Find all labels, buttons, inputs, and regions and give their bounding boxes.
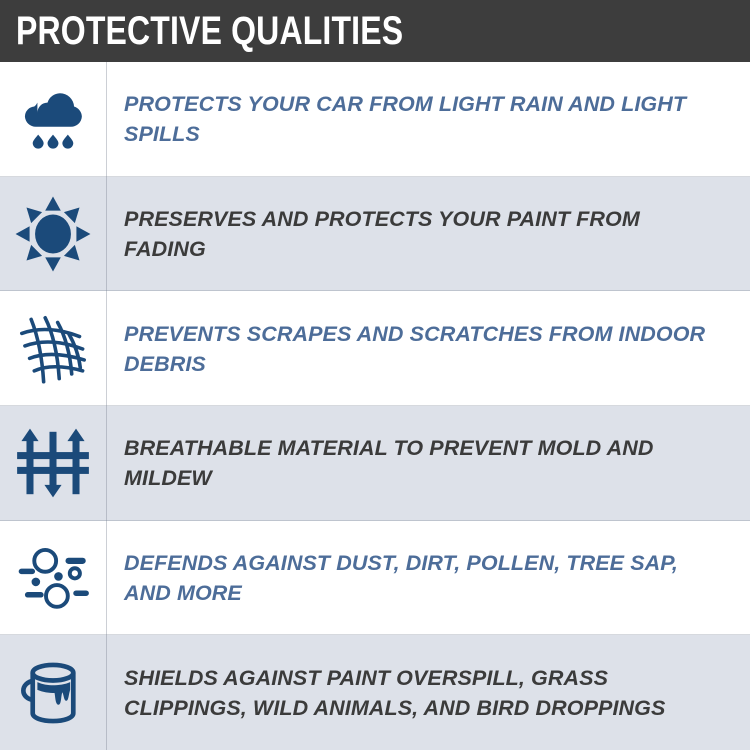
icon-cell: [0, 406, 107, 521]
text-cell: PROTECTS YOUR CAR FROM LIGHT RAIN AND LI…: [107, 62, 750, 177]
icon-cell: [0, 177, 107, 292]
text-cell: SHIELDS AGAINST PAINT OVERSPILL, GRASS C…: [107, 635, 750, 750]
text-cell: DEFENDS AGAINST DUST, DIRT, POLLEN, TREE…: [107, 521, 750, 636]
quality-text: PRESERVES AND PROTECTS YOUR PAINT FROM F…: [124, 204, 724, 264]
text-cell: BREATHABLE MATERIAL TO PREVENT MOLD AND …: [107, 406, 750, 521]
qualities-list: PROTECTS YOUR CAR FROM LIGHT RAIN AND LI…: [0, 62, 750, 750]
list-item: DEFENDS AGAINST DUST, DIRT, POLLEN, TREE…: [0, 521, 750, 636]
header-bar: PROTECTIVE QUALITIES: [0, 0, 750, 62]
quality-text: PROTECTS YOUR CAR FROM LIGHT RAIN AND LI…: [124, 89, 724, 149]
list-item: PROTECTS YOUR CAR FROM LIGHT RAIN AND LI…: [0, 62, 750, 177]
list-item: PREVENTS SCRAPES AND SCRATCHES FROM INDO…: [0, 291, 750, 406]
page-title: PROTECTIVE QUALITIES: [16, 11, 403, 51]
icon-cell: [0, 291, 107, 406]
icon-cell: [0, 521, 107, 636]
breathable-airflow-icon: [14, 424, 92, 502]
list-item: PRESERVES AND PROTECTS YOUR PAINT FROM F…: [0, 177, 750, 292]
quality-text: DEFENDS AGAINST DUST, DIRT, POLLEN, TREE…: [124, 548, 724, 608]
text-cell: PRESERVES AND PROTECTS YOUR PAINT FROM F…: [107, 177, 750, 292]
dust-particles-icon: [14, 539, 92, 617]
scratches-mesh-icon: [14, 310, 92, 388]
paint-can-icon: [14, 654, 92, 732]
quality-text: SHIELDS AGAINST PAINT OVERSPILL, GRASS C…: [124, 663, 724, 723]
text-cell: PREVENTS SCRAPES AND SCRATCHES FROM INDO…: [107, 291, 750, 406]
icon-cell: [0, 635, 107, 750]
sun-icon: [14, 195, 92, 273]
list-item: BREATHABLE MATERIAL TO PREVENT MOLD AND …: [0, 406, 750, 521]
list-item: SHIELDS AGAINST PAINT OVERSPILL, GRASS C…: [0, 635, 750, 750]
rain-cloud-icon: [14, 80, 92, 158]
protective-qualities-infographic: PROTECTIVE QUALITIES PROTECTS YOUR CAR F…: [0, 0, 750, 750]
quality-text: PREVENTS SCRAPES AND SCRATCHES FROM INDO…: [124, 319, 724, 379]
quality-text: BREATHABLE MATERIAL TO PREVENT MOLD AND …: [124, 433, 724, 493]
icon-cell: [0, 62, 107, 177]
